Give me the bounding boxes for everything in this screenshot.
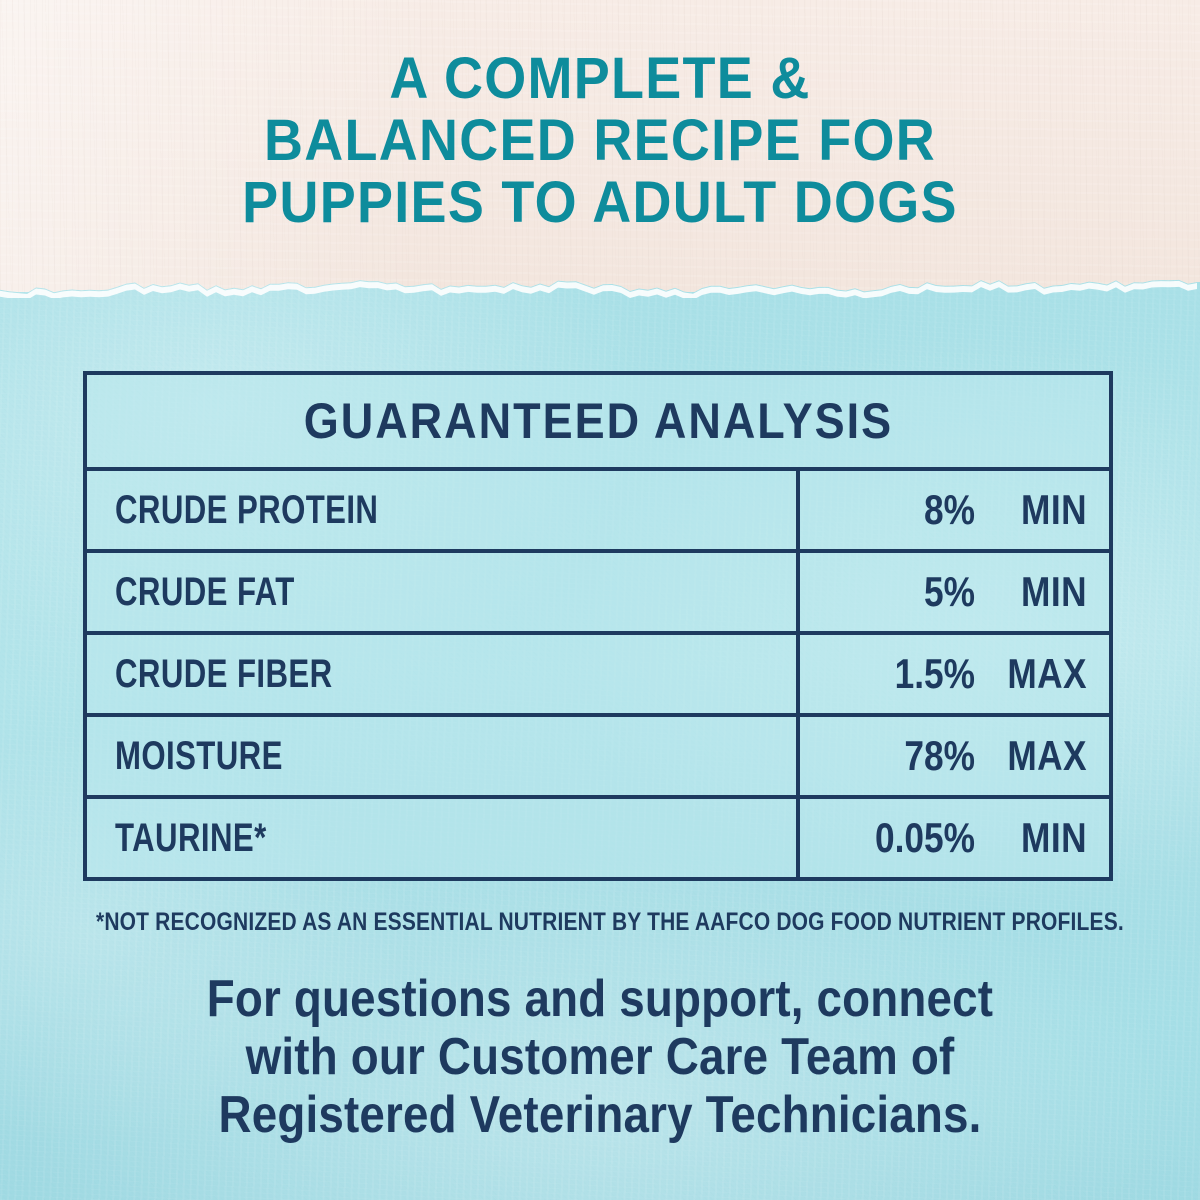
nutrient-limit: MAX [993, 650, 1087, 698]
headline-line-3: PUPPIES TO ADULT DOGS [42, 172, 1158, 234]
nutrient-name: CRUDE PROTEIN [115, 488, 378, 533]
nutrient-name: MOISTURE [115, 734, 283, 779]
headline-line-2: BALANCED RECIPE FOR [42, 110, 1158, 172]
nutrient-limit: MIN [993, 814, 1087, 862]
table-row: CRUDE PROTEIN 8% MIN [87, 471, 1109, 553]
nutrient-name-cell: TAURINE* [87, 799, 800, 877]
table-title: GUARANTEED ANALYSIS [303, 392, 892, 450]
table-row: CRUDE FIBER 1.5% MAX [87, 635, 1109, 717]
page-title: A COMPLETE & BALANCED RECIPE FOR PUPPIES… [42, 48, 1158, 234]
closing-line-3: Registered Veterinary Technicians. [72, 1086, 1128, 1144]
nutrient-name: TAURINE* [115, 816, 267, 861]
customer-care-message: For questions and support, connect with … [72, 970, 1128, 1144]
nutrient-name-cell: CRUDE FAT [87, 553, 800, 631]
nutrient-limit: MIN [993, 486, 1087, 534]
nutrient-name: CRUDE FIBER [115, 652, 332, 697]
table-header: GUARANTEED ANALYSIS [87, 375, 1109, 471]
closing-line-1: For questions and support, connect [72, 970, 1128, 1028]
nutrient-amount: 0.05% [849, 814, 975, 862]
taurine-footnote: *NOT RECOGNIZED AS AN ESSENTIAL NUTRIENT… [96, 908, 1104, 937]
headline-line-1: A COMPLETE & [42, 48, 1158, 110]
nutrient-name-cell: MOISTURE [87, 717, 800, 795]
nutrient-value-cell: 5% MIN [800, 553, 1109, 631]
nutrient-amount: 8% [849, 486, 975, 534]
nutrient-limit: MAX [993, 732, 1087, 780]
nutrient-amount: 1.5% [849, 650, 975, 698]
nutrient-value-cell: 78% MAX [800, 717, 1109, 795]
nutrient-name-cell: CRUDE PROTEIN [87, 471, 800, 549]
table-row: MOISTURE 78% MAX [87, 717, 1109, 799]
closing-line-2: with our Customer Care Team of [72, 1028, 1128, 1086]
nutrient-name: CRUDE FAT [115, 570, 295, 615]
guaranteed-analysis-table: GUARANTEED ANALYSIS CRUDE PROTEIN 8% MIN… [83, 371, 1113, 881]
product-infographic: A COMPLETE & BALANCED RECIPE FOR PUPPIES… [0, 0, 1200, 1200]
nutrient-value-cell: 0.05% MIN [800, 799, 1109, 877]
table-row: TAURINE* 0.05% MIN [87, 799, 1109, 877]
nutrient-amount: 5% [849, 568, 975, 616]
table-row: CRUDE FAT 5% MIN [87, 553, 1109, 635]
nutrient-amount: 78% [849, 732, 975, 780]
nutrient-value-cell: 8% MIN [800, 471, 1109, 549]
nutrient-name-cell: CRUDE FIBER [87, 635, 800, 713]
nutrient-limit: MIN [993, 568, 1087, 616]
nutrient-value-cell: 1.5% MAX [800, 635, 1109, 713]
